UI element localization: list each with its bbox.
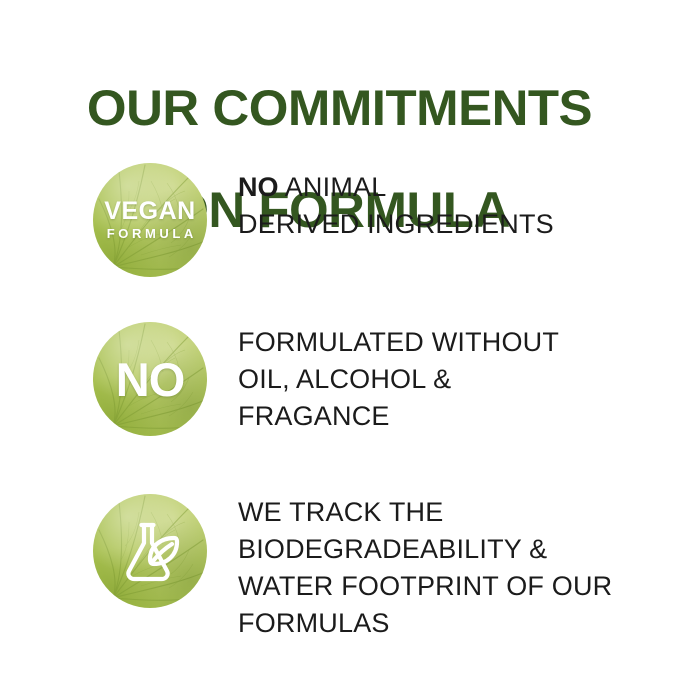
commitment-row-biodegradeability: WE TRACK THE BIODEGRADEABILITY & WATER F… — [0, 494, 679, 642]
commitment-row-vegan: VEGAN FORMULA NO ANIMAL DERIVED INGREDIE… — [0, 163, 679, 277]
no-leaf-badge: NO — [93, 322, 207, 436]
commitment-line: WATER FOOTPRINT OF OUR — [238, 568, 612, 605]
commitment-text-no: FORMULATED WITHOUT OIL, ALCOHOL & FRAGAN… — [238, 322, 559, 435]
vegan-formula-leaf-badge: VEGAN FORMULA — [93, 163, 207, 277]
commitments-infographic: OUR COMMITMENTS ON FORMULA — [0, 0, 679, 679]
badge-label-group: VEGAN FORMULA — [93, 163, 207, 277]
badge-label-group: NO — [93, 322, 207, 436]
commitment-line: DERIVED INGREDIENTS — [238, 206, 554, 243]
commitment-text-biodegradeability: WE TRACK THE BIODEGRADEABILITY & WATER F… — [238, 494, 612, 642]
commitment-line: FRAGANCE — [238, 398, 559, 435]
commitment-line: FORMULATED WITHOUT — [238, 324, 559, 361]
badge-word-secondary: FORMULA — [103, 226, 197, 242]
commitment-row-no: NO FORMULATED WITHOUT OIL, ALCOHOL & FRA… — [0, 322, 679, 436]
flask-leaf-icon — [93, 494, 207, 608]
flask-icon — [112, 513, 188, 589]
page-title-line-1: OUR COMMITMENTS — [0, 83, 679, 134]
commitment-text-vegan: NO ANIMAL DERIVED INGREDIENTS — [238, 163, 554, 243]
commitment-line-rest: ANIMAL — [279, 172, 387, 202]
emphasis-no: NO — [238, 172, 279, 202]
badge-word-primary: VEGAN — [104, 199, 195, 224]
commitment-line: OIL, ALCOHOL & — [238, 361, 559, 398]
commitment-line: WE TRACK THE — [238, 494, 612, 531]
commitment-line: FORMULAS — [238, 605, 612, 642]
commitment-line: NO ANIMAL — [238, 169, 554, 206]
commitment-line: BIODEGRADEABILITY & — [238, 531, 612, 568]
badge-word-primary: NO — [116, 356, 185, 403]
flask-leaf-badge — [93, 494, 207, 608]
